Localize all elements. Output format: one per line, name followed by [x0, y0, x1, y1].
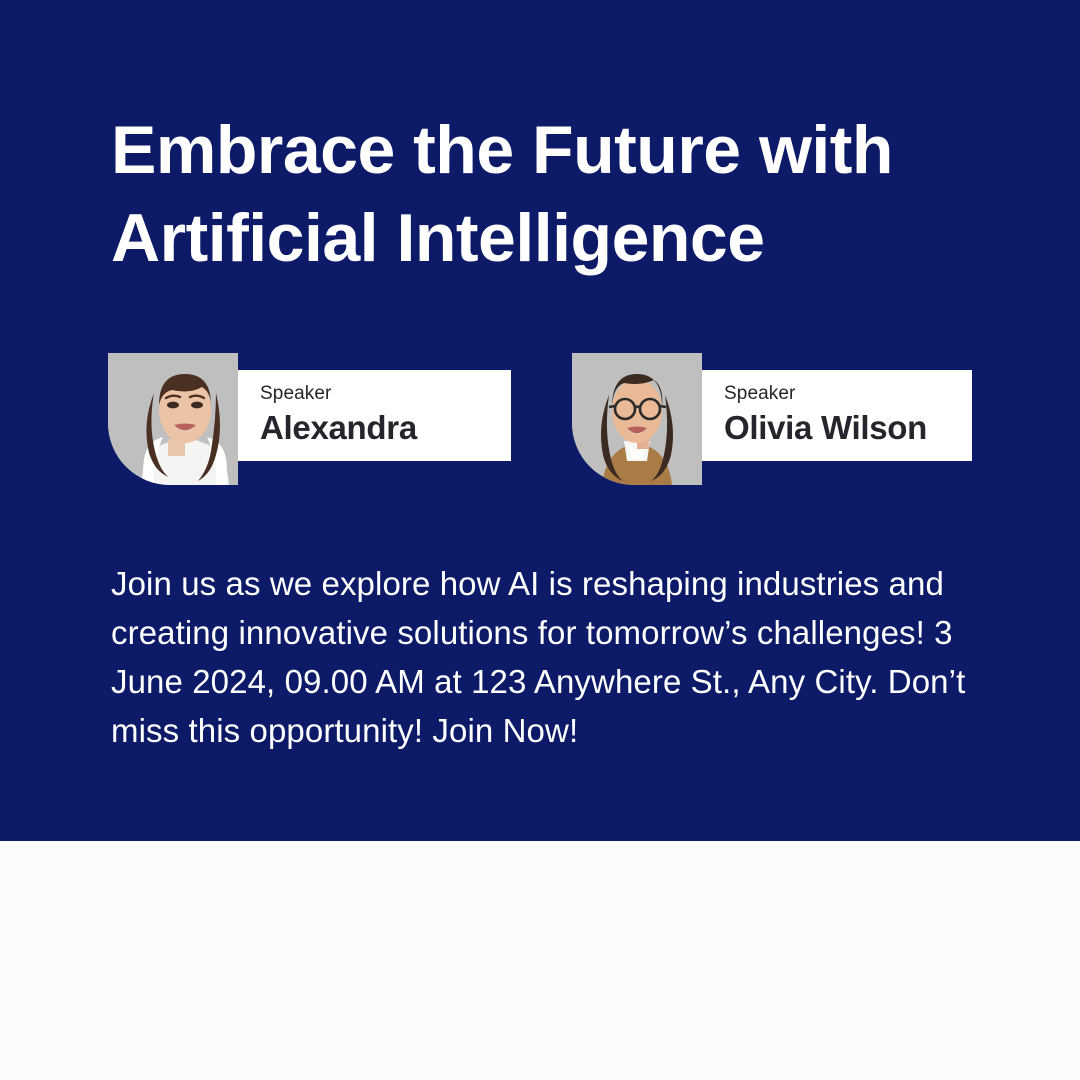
footer-section: Capcut Free Registration! Follow our soc…: [0, 841, 1080, 1080]
title-line-2: Artificial Intelligence: [111, 194, 1011, 282]
speaker-name: Olivia Wilson: [724, 408, 972, 448]
speaker-card[interactable]: Speaker Alexandra: [108, 353, 511, 485]
speaker-card-list: Speaker Alexandra: [108, 353, 988, 485]
event-description: Join us as we explore how AI is reshapin…: [111, 559, 991, 755]
speaker-role-label: Speaker: [724, 383, 972, 405]
speaker-name: Alexandra: [260, 408, 511, 448]
speaker-name-plate: Speaker Olivia Wilson: [702, 370, 972, 461]
speaker-role-label: Speaker: [260, 383, 511, 405]
page-title: Embrace the Future with Artificial Intel…: [111, 106, 1011, 282]
poster-canvas: Embrace the Future with Artificial Intel…: [0, 0, 1080, 1080]
hero-section: Embrace the Future with Artificial Intel…: [0, 0, 1080, 841]
title-line-1: Embrace the Future with: [111, 106, 1011, 194]
avatar: [572, 353, 702, 485]
avatar: [108, 353, 238, 485]
speaker-card[interactable]: Speaker Olivia Wilson: [572, 353, 972, 485]
speaker-name-plate: Speaker Alexandra: [238, 370, 511, 461]
